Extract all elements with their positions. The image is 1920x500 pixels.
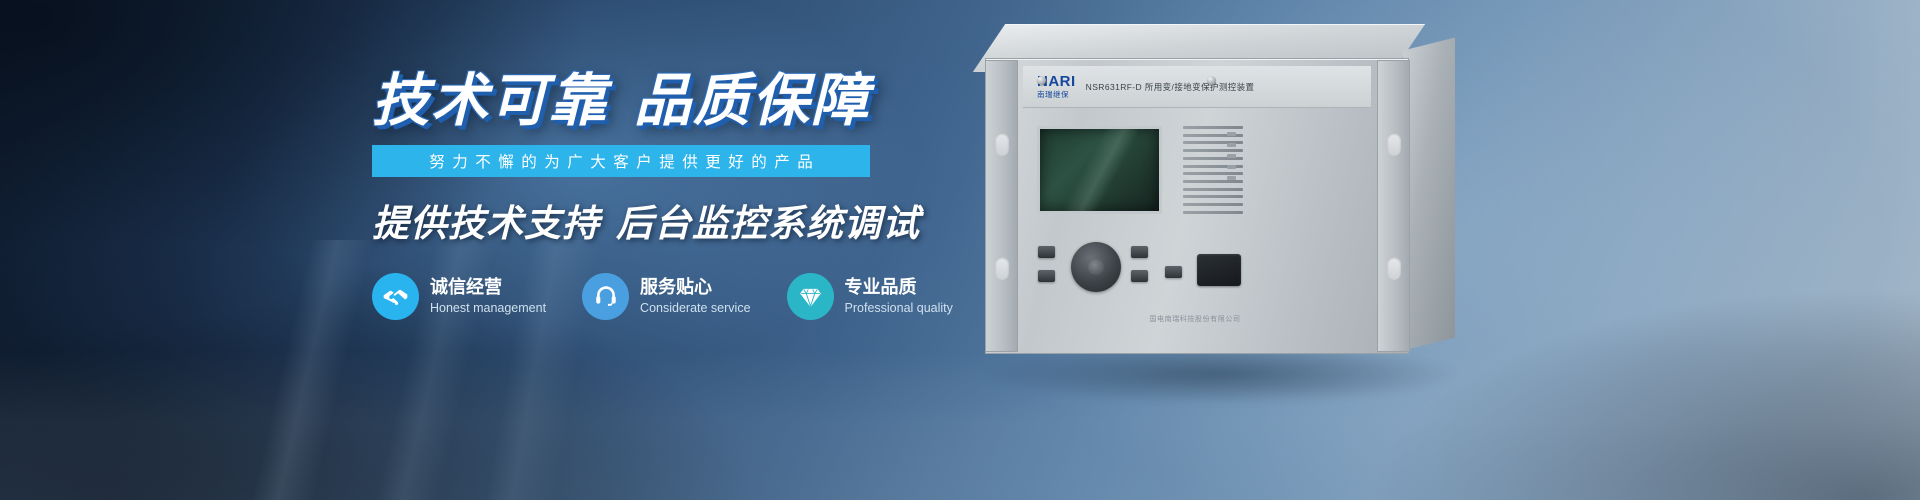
feature-subtitle: Professional quality — [845, 300, 953, 316]
vent-slot — [1183, 126, 1243, 129]
product-device-image: NARI 南瑞继保 NSR631RF-D 所用变/接地变保护测控装置 — [975, 14, 1495, 399]
banner-headline: 技术可靠品质保障 — [372, 72, 902, 132]
feature-subtitle: Honest management — [430, 300, 546, 316]
device-navigation-dpad[interactable] — [1071, 242, 1121, 292]
feature-title: 专业品质 — [845, 276, 953, 299]
handshake-icon — [372, 273, 419, 320]
subheadline-part-2: 后台监控系统调试 — [616, 203, 920, 244]
vent-slot — [1183, 203, 1243, 206]
panel-screw — [1037, 76, 1046, 85]
device-side-panel — [1403, 38, 1455, 351]
feature-subtitle: Considerate service — [640, 300, 750, 316]
floor-reflection — [0, 350, 1920, 500]
mount-hole — [995, 257, 1009, 280]
device-manufacturer-text: 国电南瑞科技股份有限公司 — [1095, 314, 1295, 324]
led-indicator — [1227, 154, 1236, 158]
device-nameplate: NARI 南瑞继保 NSR631RF-D 所用变/接地变保护测控装置 — [1023, 66, 1371, 108]
mount-hole — [1387, 257, 1401, 280]
led-indicator — [1227, 132, 1236, 136]
headset-icon — [582, 273, 629, 320]
promo-banner: 技术可靠品质保障 努力不懈的为广大客户提供更好的产品 提供技术支持后台监控系统调… — [0, 0, 1920, 500]
vent-slot — [1183, 211, 1243, 214]
feature-item-honest-management: 诚信经营 Honest management — [372, 273, 546, 320]
device-key-button[interactable] — [1038, 270, 1055, 282]
device-mount-ear-left — [985, 60, 1018, 352]
diamond-icon — [787, 273, 834, 320]
mount-hole — [995, 133, 1009, 156]
feature-text: 诚信经营 Honest management — [430, 276, 546, 317]
led-indicator — [1227, 176, 1236, 180]
device-key-button[interactable] — [1131, 246, 1148, 258]
device-mount-ear-right — [1377, 60, 1410, 352]
headline-part-2: 品质保障 — [634, 69, 870, 133]
device-key-button[interactable] — [1131, 270, 1148, 282]
vignette-top-left — [0, 0, 1920, 500]
panel-screw — [1207, 76, 1216, 85]
vignette-bottom-right — [0, 0, 1920, 500]
feature-text: 服务贴心 Considerate service — [640, 276, 750, 317]
feature-title: 服务贴心 — [640, 276, 750, 299]
feature-title: 诚信经营 — [430, 276, 546, 299]
screen-glare — [1040, 129, 1159, 211]
device-key-button[interactable] — [1038, 246, 1055, 258]
brand-name-cn: 南瑞继保 — [1037, 91, 1076, 99]
banner-subheadline: 提供技术支持后台监控系统调试 — [372, 193, 902, 247]
device-port-cover — [1197, 254, 1241, 286]
banner-ribbon: 努力不懈的为广大客户提供更好的产品 — [372, 145, 870, 177]
feature-list: 诚信经营 Honest management 服务贴心 Considerat — [372, 273, 902, 320]
vignette-bottom-left — [0, 0, 1920, 500]
device-key-button[interactable] — [1165, 266, 1182, 278]
led-indicator — [1227, 165, 1236, 169]
led-indicator — [1227, 143, 1236, 147]
subheadline-part-1: 提供技术支持 — [372, 203, 600, 244]
feature-text: 专业品质 Professional quality — [845, 276, 953, 317]
device-lcd-screen — [1037, 126, 1162, 214]
feature-item-professional-quality: 专业品质 Professional quality — [787, 273, 953, 320]
banner-copy-block: 技术可靠品质保障 努力不懈的为广大客户提供更好的产品 提供技术支持后台监控系统调… — [372, 72, 902, 320]
headline-part-1: 技术可靠 — [372, 69, 608, 133]
ribbon-text: 努力不懈的为广大客户提供更好的产品 — [422, 150, 821, 172]
feature-item-considerate-service: 服务贴心 Considerate service — [582, 273, 750, 320]
device-model-text: NSR631RF-D 所用变/接地变保护测控装置 — [1086, 81, 1255, 93]
device-led-indicators — [1227, 132, 1249, 202]
mount-hole — [1387, 133, 1401, 156]
